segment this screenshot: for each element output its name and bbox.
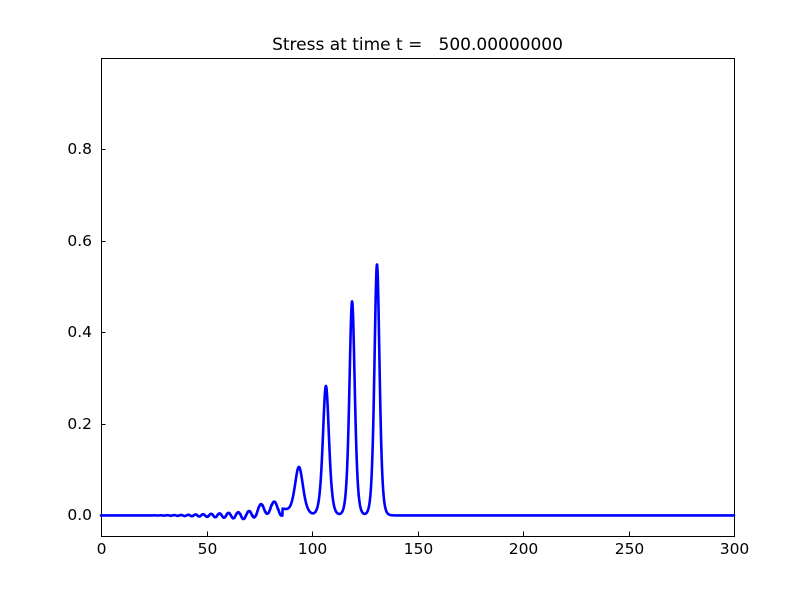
x-tick-label: 200: [509, 540, 539, 558]
figure-canvas: 0.00.20.40.60.8 050100150200250300 Stres…: [0, 0, 800, 600]
x-tick-label: 250: [615, 540, 645, 558]
chart-title: Stress at time t = 500.00000000: [272, 35, 563, 55]
y-tick-label: 0.6: [67, 232, 92, 250]
stress-plot: 0.00.20.40.60.8 050100150200250300 Stres…: [0, 0, 800, 600]
x-tick-label: 150: [404, 540, 434, 558]
y-tick-label: 0.0: [67, 506, 92, 524]
y-tick-label: 0.2: [67, 415, 92, 433]
y-tick-label: 0.4: [67, 323, 92, 341]
x-tick-label: 100: [298, 540, 328, 558]
x-tick-label: 50: [198, 540, 218, 558]
plot-area-background: [101, 58, 734, 536]
x-tick-label: 0: [97, 540, 107, 558]
y-tick-label: 0.8: [67, 140, 92, 158]
x-tick-label: 300: [720, 540, 750, 558]
